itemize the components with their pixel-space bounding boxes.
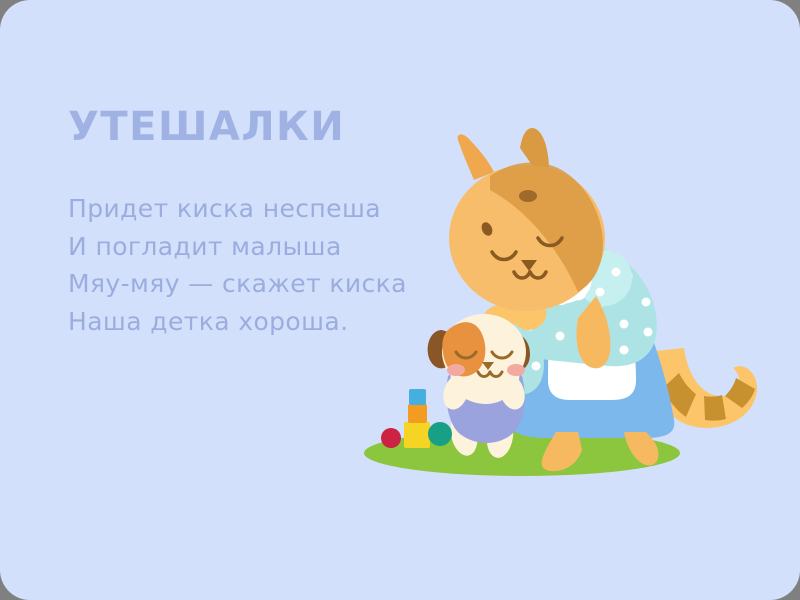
cat-sleeve-puff: [576, 250, 632, 306]
puppy-arms: [439, 371, 529, 413]
cat-collar: [494, 240, 592, 305]
cat-collar-scallop: [514, 286, 586, 305]
cat-apron: [548, 296, 636, 400]
puppy-romper: [447, 367, 525, 443]
cat-legs: [542, 432, 659, 471]
puppy-nose: [482, 362, 494, 370]
toy-cube-blue: [409, 389, 426, 405]
poem-line-1: Придет киска неспеша: [68, 190, 488, 228]
poem-line-3: Мяу-мяу — скажет киска: [68, 265, 488, 303]
toy-ball-teal: [428, 422, 452, 446]
poem-line-2: И погладит малыша: [68, 228, 488, 266]
grass-ellipse: [364, 430, 680, 476]
cat-face: [492, 238, 562, 278]
cat-head-patch: [490, 162, 603, 292]
cat-ear-left: [458, 134, 494, 180]
cat-skirt: [510, 300, 674, 438]
poem-card: УТЕШАЛКИ Придет киска неспеша И погладит…: [0, 0, 800, 600]
cat-right-arm: [576, 296, 610, 368]
toy-cube-orange: [408, 404, 427, 423]
cat-tail: [646, 348, 757, 428]
puppy-ear-right: [505, 334, 530, 371]
cat-paw: [515, 303, 547, 330]
cat-ear-right: [520, 128, 549, 182]
cat-blouse: [504, 237, 657, 394]
puppy-face: [456, 352, 512, 377]
poem-line-4: Наша детка хороша.: [68, 303, 488, 341]
puppy-torso: [451, 362, 520, 404]
poem-block: Придет киска неспеша И погладит малыша М…: [68, 190, 488, 340]
toy-ball-red: [381, 428, 401, 448]
page-title: УТЕШАЛКИ: [68, 104, 345, 150]
puppy-cheek-left: [447, 364, 465, 376]
cat-paw-arm: [483, 304, 520, 334]
cat-nose: [521, 260, 537, 271]
cat-head-mark: [519, 190, 537, 202]
toy-cube-yellow: [404, 422, 430, 448]
puppy-legs: [447, 410, 516, 460]
puppy-cheek-right: [507, 364, 525, 376]
